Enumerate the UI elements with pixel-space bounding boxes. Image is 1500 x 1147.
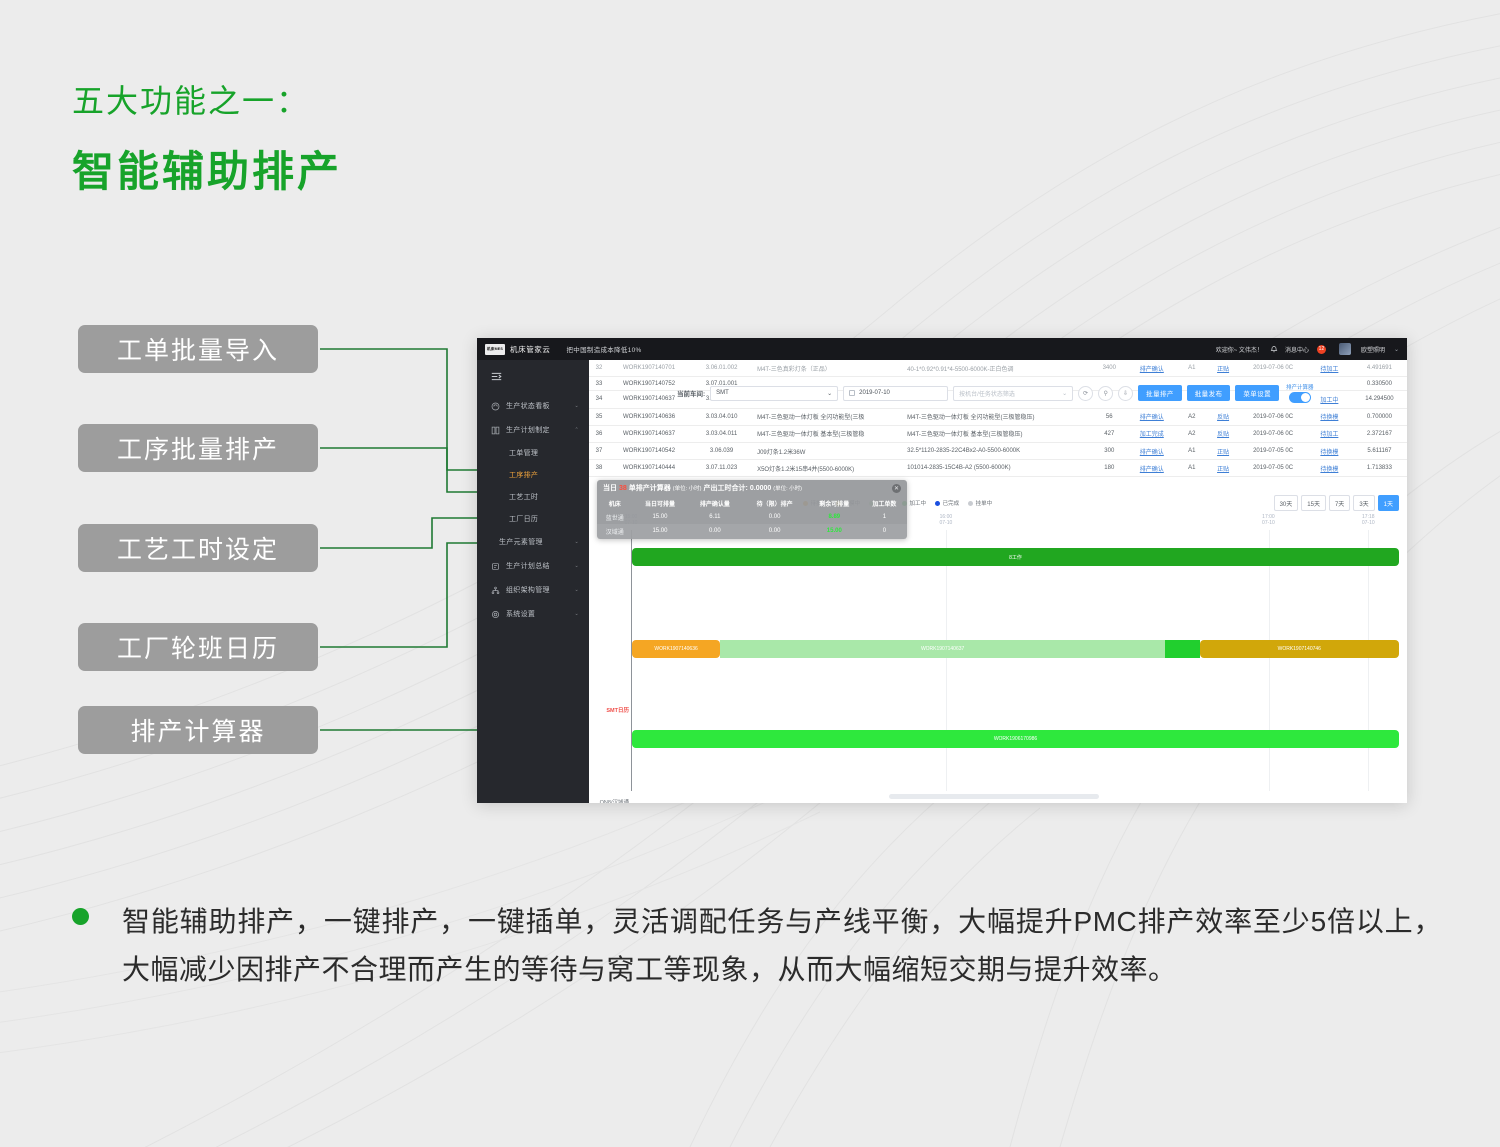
table-cell-date: 2019-07-06 0C (1239, 408, 1307, 425)
main-content: 32WORK19071407013.06.01.002M4T-三色真彩灯条（正品… (589, 360, 1407, 803)
date-picker-value: 2019-07-10 (859, 390, 890, 396)
table-cell-date: 2019-07-06 0C (1239, 360, 1307, 377)
calculator-row: 汉域通15.000.000.0015.000 (597, 524, 907, 538)
calculator-unit-1: (单位: 小时) (673, 484, 702, 492)
cell-link[interactable]: 加工完成 (1140, 432, 1164, 438)
cell-link[interactable]: 反贴 (1217, 432, 1229, 438)
chevron-down-icon: ⌄ (575, 611, 580, 617)
calculator-cell-remaining: 15.00 (807, 524, 862, 538)
gantt-gridline (1269, 530, 1270, 791)
chevron-down-icon[interactable]: ⌄ (1394, 346, 1399, 353)
table-cell-side: 正贴 (1207, 460, 1240, 477)
table-cell-code: 3.06.039 (689, 442, 754, 459)
sidebar-item-process-scheduling[interactable]: 工序排产 (477, 464, 589, 486)
sidebar-item-system-settings[interactable]: 系统设置 ⌄ (477, 602, 589, 626)
table-cell-idx: 38 (589, 460, 609, 477)
table-cell-name: M4T-三色驱动一体灯板 基本型(三极管稳 (754, 425, 904, 442)
table-cell-wo: WORK1907140636 (609, 408, 689, 425)
table-cell-code: 3.06.01.002 (689, 360, 754, 377)
close-icon[interactable]: ✕ (892, 484, 901, 493)
table-cell-st2: 待加工 (1307, 425, 1352, 442)
summary-icon (491, 562, 500, 571)
page-subtitle: 五大功能之一： (72, 76, 310, 122)
cell-link[interactable]: 正贴 (1217, 467, 1229, 473)
sidebar-label-production-elements: 生产元素管理 (499, 537, 543, 547)
gantt-gridline (946, 530, 947, 791)
table-cell-date: 2019-07-05 0C (1239, 460, 1307, 477)
sidebar-label-plan-summary: 生产计划总结 (506, 561, 550, 571)
table-cell-name: M4T-三色驱动一体灯板 全闪功能型(三极 (754, 408, 904, 425)
range-button-1天[interactable]: 1天 (1378, 495, 1399, 511)
page-title: 智能辅助排产 (72, 138, 342, 199)
gantt-tick-date: 07-10 (1362, 520, 1375, 526)
cell-link[interactable]: 正贴 (1217, 450, 1229, 456)
calculator-column-header: 加工单数 (862, 496, 907, 510)
table-cell-st: 排产确认 (1127, 408, 1177, 425)
time-range-buttons: 30天15天7天3天1天 (1274, 495, 1399, 511)
date-picker[interactable]: 2019-07-10 (843, 386, 948, 401)
range-button-30天[interactable]: 30天 (1274, 495, 1299, 511)
table-cell-side: 反贴 (1207, 425, 1240, 442)
table-cell-spec: M4T-三色驱动一体灯板 基本型(三极管稳压) (904, 425, 1092, 442)
table-cell-st2: 待换模 (1307, 408, 1352, 425)
gantt-chart: 15:0007-1016:0007-1017:0007-1017:1807-10… (589, 514, 1407, 803)
table-cell-wo: WORK1907140542 (609, 442, 689, 459)
sidebar: 生产状态看板 ⌄ 生产计划制定 ⌃ 工单管理 工序排产 工艺工时 工厂日历 生产… (477, 360, 589, 803)
feature-pill-label-1: 工序批量排产 (117, 430, 279, 466)
table-cell-qty: 180 (1092, 460, 1127, 477)
welcome-text: 欢迎你~ 文伟杰！ (1216, 345, 1263, 354)
sidebar-item-production-elements[interactable]: 生产元素管理 ⌄ (477, 530, 589, 554)
sidebar-item-plan-summary[interactable]: 生产计划总结 ⌄ (477, 554, 589, 578)
gantt-bar[interactable]: 8工作 (632, 548, 1399, 566)
dashboard-icon (491, 402, 500, 411)
table-cell-spec: 101014-2835-15C4B-A2 (5500-6000K) (904, 460, 1092, 477)
table-cell-hours: 2.372167 (1352, 425, 1407, 442)
table-row[interactable]: 36WORK19071406373.03.04.011M4T-三色驱动一体灯板 … (589, 425, 1407, 442)
calculator-toggle-label: 排产计算器 (1286, 383, 1314, 391)
cell-link[interactable]: 排产确认 (1140, 450, 1164, 456)
calculator-column-header: 待（限）排产 (742, 496, 807, 510)
table-cell-idx: 37 (589, 442, 609, 459)
cell-link[interactable]: 待换模 (1320, 415, 1338, 421)
table-cell-date: 2019-07-06 0C (1239, 425, 1307, 442)
calculator-toggle[interactable] (1289, 392, 1311, 403)
table-cell-qty: 3400 (1092, 360, 1127, 377)
gantt-row-label-0: SMT日历 (591, 707, 629, 715)
topbar-right-group: 欢迎你~ 文伟杰！ 消息中心 12 欧塑照明 ⌄ (1216, 343, 1399, 355)
table-cell-spec: 40-1*0.92*0.91*4-5500-6000K-正白色调 (904, 360, 1092, 377)
calculator-title-prefix: 当日 (603, 483, 617, 493)
table-cell-idx: 35 (589, 408, 609, 425)
message-badge: 12 (1317, 345, 1326, 354)
table-cell-code: 3.03.04.010 (689, 408, 754, 425)
gantt-gridline (1368, 530, 1369, 791)
table-cell-st: 加工完成 (1127, 425, 1177, 442)
chevron-down-icon: ⌄ (1062, 390, 1067, 397)
table-cell-mach: A1 (1177, 360, 1207, 377)
calculator-cell-machine: 汉域通 (597, 524, 633, 538)
calculator-header: 当日 38 单排产计算器 (单位: 小时) 产出工时合计: 0.0000 (单位… (597, 480, 907, 496)
cell-link[interactable]: 待加工 (1320, 367, 1338, 373)
calculator-toggle-group: 排产计算器 (1286, 383, 1314, 403)
table-row[interactable]: 32WORK19071407013.06.01.002M4T-三色真彩灯条（正品… (589, 360, 1407, 377)
table-cell-mach: A2 (1177, 425, 1207, 442)
feature-pill-label-0: 工单批量导入 (117, 331, 279, 367)
feature-pill-3[interactable]: 工厂轮班日历 (78, 623, 318, 671)
sidebar-label-production-plan: 生产计划制定 (506, 425, 550, 435)
chevron-down-icon: ⌄ (575, 563, 580, 569)
gantt-bar[interactable]: WORK1906170986 (632, 730, 1399, 748)
chevron-down-icon: ⌄ (575, 539, 580, 545)
app-topbar: 机床MES 机床管家云 把中国制造成本降低10% 欢迎你~ 文伟杰！ 消息中心 … (477, 338, 1407, 360)
table-cell-code: 3.07.11.023 (689, 460, 754, 477)
gantt-bar[interactable] (1165, 640, 1200, 658)
table-cell-wo: WORK1907140444 (609, 460, 689, 477)
table-cell-qty: 56 (1092, 408, 1127, 425)
cell-link[interactable]: 排产确认 (1140, 467, 1164, 473)
menu-settings-button[interactable]: 菜单设置 (1235, 385, 1279, 401)
table-cell-spec: 32.5*1120-2835-22C4Bx2-A0-5500-6000K (904, 442, 1092, 459)
status-filter-placeholder: 按机台/任务状态筛选 (959, 389, 1015, 398)
table-cell-st: 排产确认 (1127, 460, 1177, 477)
plan-icon (491, 426, 500, 435)
refresh-icon[interactable]: ⟳ (1078, 386, 1093, 401)
table-cell-name: M4T-三色真彩灯条（正品） (754, 360, 904, 377)
gantt-tick-1: 16:0007-10 (939, 514, 952, 526)
table-cell-idx: 34 (589, 391, 609, 408)
table-cell-idx: 36 (589, 425, 609, 442)
table-cell-wo: WORK1907140701 (609, 360, 689, 377)
workshop-select[interactable]: SMT ⌄ (710, 386, 838, 401)
feature-pill-2[interactable]: 工艺工时设定 (78, 524, 318, 572)
batch-schedule-button[interactable]: 批量排产 (1138, 385, 1182, 401)
calculator-cell-capacity: 15.00 (633, 524, 688, 538)
table-cell-code: 3.03.04.011 (689, 425, 754, 442)
gantt-bar[interactable]: WORK1907140636 (632, 640, 720, 658)
legend-label: 加工中 (910, 499, 927, 507)
calculator-cell-orders: 1 (862, 510, 907, 524)
gear-icon (491, 610, 500, 619)
legend-dot-icon (968, 501, 973, 506)
bell-icon[interactable] (1270, 345, 1278, 353)
gantt-tick-date: 07-10 (1262, 520, 1275, 526)
table-cell-name: J09灯条1.2米36W (754, 442, 904, 459)
gantt-tick-date: 07-10 (939, 520, 952, 526)
batch-publish-button[interactable]: 批量发布 (1187, 385, 1231, 401)
cell-link[interactable]: 反贴 (1217, 415, 1229, 421)
sidebar-label-organization: 组织架构管理 (506, 585, 550, 595)
calculator-column-header: 剩余可排量 (807, 496, 862, 510)
table-cell-st2: 待加工 (1307, 360, 1352, 377)
table-cell-side: 正贴 (1207, 442, 1240, 459)
legend-dot-icon (935, 501, 940, 506)
calculator-cell-pending: 0.00 (742, 524, 807, 538)
calculator-column-header: 排产确认量 (687, 496, 742, 510)
calculator-order-count: 38 (619, 485, 627, 492)
collapse-menu-icon[interactable] (477, 366, 589, 394)
scheduling-calculator-panel: 当日 38 单排产计算器 (单位: 小时) 产出工时合计: 0.0000 (单位… (597, 480, 907, 539)
sidebar-item-production-plan[interactable]: 生产计划制定 ⌃ (477, 418, 589, 442)
feature-pill-4[interactable]: 排产计算器 (78, 706, 318, 754)
calendar-icon (849, 390, 855, 396)
range-button-3天[interactable]: 3天 (1353, 495, 1374, 511)
legend-label: 已完成 (943, 499, 960, 507)
calculator-column-header: 机床 (597, 496, 633, 510)
table-row[interactable]: 35WORK19071406363.03.04.010M4T-三色驱动一体灯板 … (589, 408, 1407, 425)
calculator-total-value: 0.0000 (750, 485, 771, 492)
calculator-cell-confirmed: 0.00 (687, 524, 742, 538)
gantt-bar[interactable]: WORK1907140746 (1200, 640, 1399, 658)
calculator-column-header: 当日可排量 (633, 496, 688, 510)
sidebar-label-system-settings: 系统设置 (506, 609, 535, 619)
org-name[interactable]: 欧塑照明 (1361, 345, 1385, 354)
range-button-7天[interactable]: 7天 (1329, 495, 1350, 511)
table-cell-hours: 0.700000 (1352, 408, 1407, 425)
table-cell-date: 2019-07-05 0C (1239, 442, 1307, 459)
sidebar-item-organization[interactable]: 组织架构管理 ⌄ (477, 578, 589, 602)
gantt-row-label-1: ON8/汉域通 (591, 799, 629, 803)
chevron-down-icon: ⌄ (827, 390, 832, 397)
table-row[interactable]: 37WORK19071405423.06.039J09灯条1.2米36W32.5… (589, 442, 1407, 459)
table-cell-idx: 32 (589, 360, 609, 377)
cell-link[interactable]: 排产确认 (1140, 415, 1164, 421)
feature-pill-0[interactable]: 工单批量导入 (78, 325, 318, 373)
table-cell-hours: 1.713833 (1352, 460, 1407, 477)
gantt-tick-2: 17:0007-10 (1262, 514, 1275, 526)
gantt-tick-3: 17:1807-10 (1362, 514, 1375, 526)
filter-toolbar: 当前车间: SMT ⌄ 2019-07-10 按机台/任务状态筛选 ⌄ ⟳ ⚲ (677, 382, 1399, 404)
table-cell-mach: A1 (1177, 442, 1207, 459)
calculator-table: 机床当日可排量排产确认量待（限）排产剩余可排量加工单数 蓝世通15.006.11… (597, 496, 907, 539)
calculator-cell-machine: 蓝世通 (597, 510, 633, 524)
avatar[interactable] (1339, 343, 1351, 355)
table-cell-st2: 待换模 (1307, 442, 1352, 459)
table-cell-side: 正贴 (1207, 360, 1240, 377)
status-filter-input[interactable]: 按机台/任务状态筛选 ⌄ (953, 386, 1073, 401)
table-cell-qty: 427 (1092, 425, 1127, 442)
slide-root: 五大功能之一： 智能辅助排产 工单批量导入 工序批量排产 工艺工时设定 工厂轮班… (0, 0, 1500, 1147)
table-cell-st: 排产确认 (1127, 360, 1177, 377)
calculator-cell-orders: 0 (862, 524, 907, 538)
sidebar-item-factory-calendar[interactable]: 工厂日历 (477, 508, 589, 530)
sidebar-label-dashboard: 生产状态看板 (506, 401, 550, 411)
footnote-text: 智能辅助排产，一键排产，一键插单，灵活调配任务与产线平衡，大幅提升PMC排产效率… (122, 898, 1442, 994)
filter-icon[interactable]: ⇩ (1118, 386, 1133, 401)
gantt-grid: 8工作WORK1907140636WORK1907140637WORK19071… (631, 530, 1399, 791)
table-cell-side: 反贴 (1207, 408, 1240, 425)
gantt-horizontal-scrollbar[interactable] (889, 794, 1099, 799)
table-row[interactable]: 38WORK19071404443.07.11.023X5O灯条1.2米15串4… (589, 460, 1407, 477)
chevron-down-icon: ⌄ (575, 403, 580, 409)
legend-label: 挂单中 (976, 499, 993, 507)
app-window: 机床MES 机床管家云 把中国制造成本降低10% 欢迎你~ 文伟杰！ 消息中心 … (477, 338, 1407, 803)
range-button-15天[interactable]: 15天 (1301, 495, 1326, 511)
chevron-down-icon: ⌄ (575, 587, 580, 593)
search-icon[interactable]: ⚲ (1098, 386, 1113, 401)
table-cell-qty: 300 (1092, 442, 1127, 459)
legend-item-4: 已完成 (935, 499, 959, 507)
calculator-total-label: 产出工时合计: (704, 483, 748, 493)
calculator-cell-confirmed: 6.11 (687, 510, 742, 524)
app-logo-text: 机床管家云 (510, 344, 551, 355)
cell-link[interactable]: 正贴 (1217, 367, 1229, 373)
gantt-bar[interactable]: WORK1907140637 (720, 640, 1165, 658)
table-cell-st2: 待换模 (1307, 460, 1352, 477)
feature-pill-label-2: 工艺工时设定 (117, 530, 279, 566)
table-cell-hours: 4.491691 (1352, 360, 1407, 377)
table-cell-st: 排产确认 (1127, 442, 1177, 459)
feature-pill-label-4: 排产计算器 (130, 712, 265, 748)
table-cell-name: X5O灯条1.2米15串4并(5500-6000K) (754, 460, 904, 477)
org-icon (491, 586, 500, 595)
chevron-up-icon: ⌃ (575, 427, 580, 433)
bullet-dot-icon (72, 908, 89, 925)
sidebar-item-dashboard[interactable]: 生产状态看板 ⌄ (477, 394, 589, 418)
message-center-link[interactable]: 消息中心 (1285, 345, 1309, 354)
table-cell-spec: M4T-三色驱动一体灯板 全闪功能型(三极管稳压) (904, 408, 1092, 425)
feature-pill-1[interactable]: 工序批量排产 (78, 424, 318, 472)
calculator-cell-remaining: 8.89 (807, 510, 862, 524)
app-body: 生产状态看板 ⌄ 生产计划制定 ⌃ 工单管理 工序排产 工艺工时 工厂日历 生产… (477, 360, 1407, 803)
cell-link[interactable]: 待换模 (1320, 450, 1338, 456)
cell-link[interactable]: 排产确认 (1140, 367, 1164, 373)
app-logo-icon: 机床MES (485, 344, 505, 355)
sidebar-item-work-order[interactable]: 工单管理 (477, 442, 589, 464)
calculator-title: 单排产计算器 (629, 483, 671, 493)
table-cell-mach: A1 (1177, 460, 1207, 477)
cell-link[interactable]: 待加工 (1320, 432, 1338, 438)
workshop-select-value: SMT (716, 390, 729, 396)
table-cell-wo: WORK1907140637 (609, 425, 689, 442)
legend-item-5: 挂单中 (968, 499, 992, 507)
table-cell-mach: A2 (1177, 408, 1207, 425)
workshop-label: 当前车间: (677, 388, 705, 398)
feature-pill-label-3: 工厂轮班日历 (117, 629, 279, 665)
app-slogan: 把中国制造成本降低10% (567, 344, 642, 354)
calculator-cell-capacity: 15.00 (633, 510, 688, 524)
work-order-table: 32WORK19071407013.06.01.002M4T-三色真彩灯条（正品… (589, 360, 1407, 477)
calculator-cell-pending: 0.00 (742, 510, 807, 524)
cell-link[interactable]: 待换模 (1320, 467, 1338, 473)
table-cell-idx: 33 (589, 377, 609, 391)
sidebar-item-process-hours[interactable]: 工艺工时 (477, 486, 589, 508)
calculator-row: 蓝世通15.006.110.008.891 (597, 510, 907, 524)
calculator-unit-2: (单位: 小时) (773, 484, 802, 492)
table-cell-hours: 5.611167 (1352, 442, 1407, 459)
